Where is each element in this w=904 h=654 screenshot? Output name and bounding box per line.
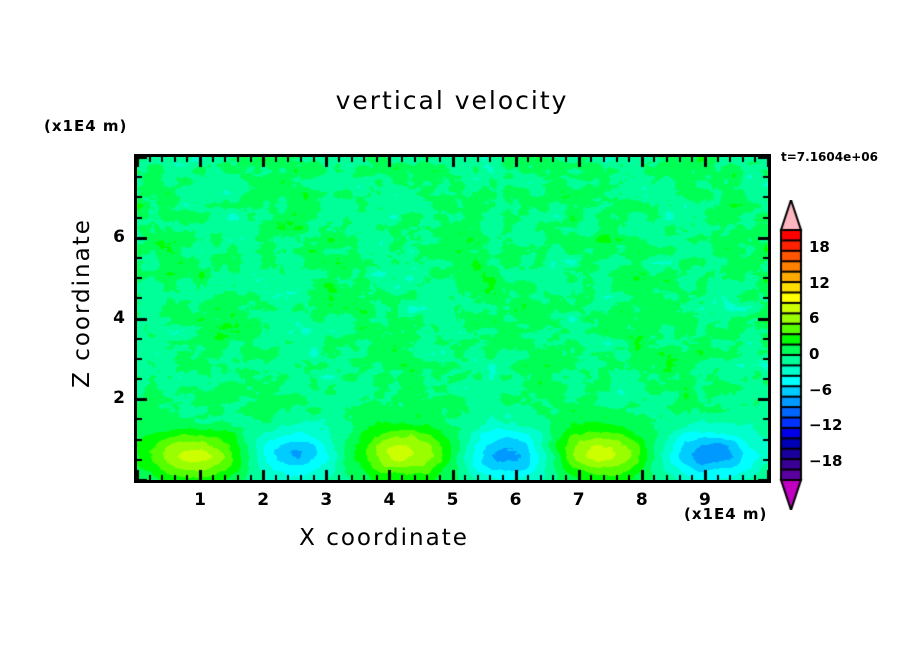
colorbar-tick-label: −6 [809, 381, 832, 399]
colorbar-tick-label: −12 [809, 416, 842, 434]
colorbar [775, 200, 809, 510]
colorbar-tick-label: 18 [809, 238, 830, 256]
x-tick-label: 7 [559, 490, 599, 510]
page-title: vertical velocity [0, 86, 904, 115]
x-tick-label: 3 [306, 490, 346, 510]
x-tick-label: 8 [622, 490, 662, 510]
plot-figure: vertical velocity (x1E4 m) t=7.1604e+06 … [0, 0, 904, 654]
colorbar-tick-label: −18 [809, 452, 842, 470]
y-tick-label: 2 [97, 388, 125, 408]
y-tick-label: 6 [97, 227, 125, 247]
x-tick-label: 5 [433, 490, 473, 510]
x-tick-label: 2 [243, 490, 283, 510]
y-tick-label: 4 [97, 308, 125, 328]
colorbar-tick-label: 12 [809, 274, 830, 292]
y-axis-title: Z coordinate [69, 203, 95, 403]
colorbar-tick-label: 0 [809, 345, 819, 363]
z-axis-unit-label: (x1E4 m) [44, 117, 127, 135]
x-tick-label: 1 [180, 490, 220, 510]
x-tick-label: 6 [496, 490, 536, 510]
timestamp-label: t=7.1604e+06 [781, 150, 878, 164]
x-axis-unit-label: (x1E4 m) [684, 505, 767, 523]
x-axis-title: X coordinate [0, 525, 768, 551]
x-tick-label: 4 [369, 490, 409, 510]
colorbar-tick-label: 6 [809, 309, 819, 327]
contour-plot-canvas [137, 157, 768, 480]
